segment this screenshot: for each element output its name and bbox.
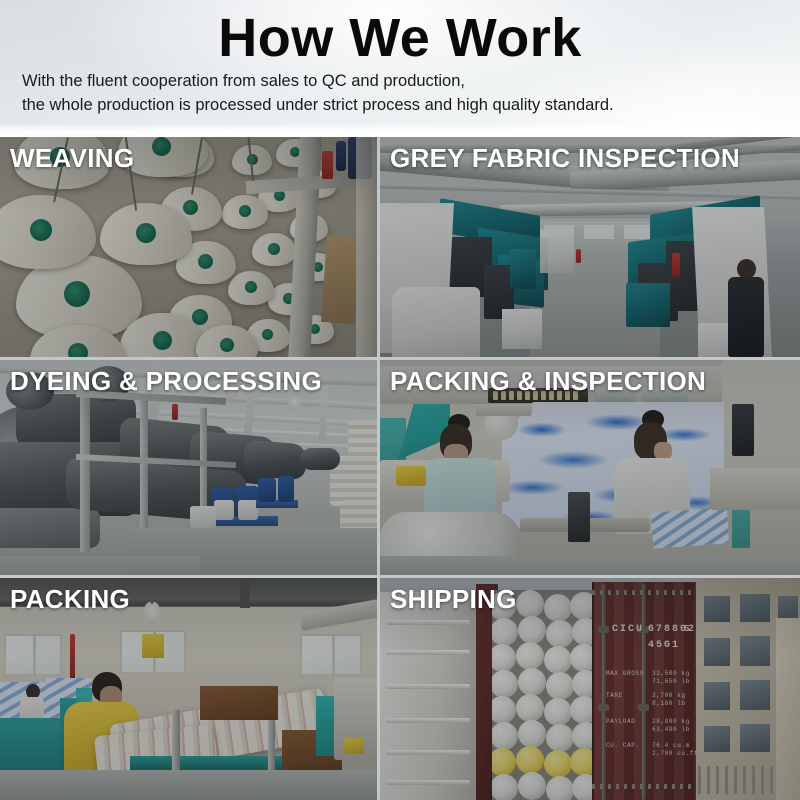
subtitle-line-2: the whole production is processed under … xyxy=(22,94,782,118)
plate-value-payload-lb: 63,490 lb xyxy=(652,726,690,733)
how-we-work-page: How We Work With the fluent cooperation … xyxy=(0,0,800,800)
worker-figure xyxy=(726,259,766,357)
grid-cell-dyeing-processing[interactable]: DYEING & PROCESSING xyxy=(0,360,380,578)
subtitle-line-1: With the fluent cooperation from sales t… xyxy=(22,70,782,94)
plate-value-tare-kg: 3,700 kg xyxy=(652,692,686,699)
grid-cell-packing[interactable]: PACKING xyxy=(0,578,380,800)
process-grid: WEAVING xyxy=(0,137,800,800)
page-header: How We Work With the fluent cooperation … xyxy=(0,0,800,137)
caption-packing: PACKING xyxy=(10,584,130,615)
plate-label-cu-cap: CU. CAP. xyxy=(606,742,640,749)
plate-value-payload-kg: 28,800 kg xyxy=(652,718,690,725)
plate-value-max-gross-lb: 71,650 lb xyxy=(652,678,690,685)
caption-packing-inspection: PACKING & INSPECTION xyxy=(390,366,706,397)
grid-cell-shipping[interactable]: CICU 678802 5 45G1 MAX GROSS 32,500 kg 7… xyxy=(380,578,800,800)
plate-label-payload: PAYLOAD xyxy=(606,718,635,725)
cargo-rolls xyxy=(492,590,594,800)
plate-value-tare-lb: 8,160 lb xyxy=(652,700,686,707)
container-type-code: 45G1 xyxy=(648,640,680,651)
plate-value-cu-cap-ft3: 2,700 cu.ft xyxy=(652,750,698,757)
caption-weaving: WEAVING xyxy=(10,143,134,174)
grid-cell-weaving[interactable]: WEAVING xyxy=(0,137,380,360)
page-title: How We Work xyxy=(0,11,800,65)
container-check-digit: 5 xyxy=(684,624,691,634)
caption-dyeing-processing: DYEING & PROCESSING xyxy=(10,366,322,397)
plate-value-cu-cap-m3: 76.4 cu.m xyxy=(652,742,690,749)
page-subtitle: With the fluent cooperation from sales t… xyxy=(22,70,782,118)
caption-shipping: SHIPPING xyxy=(390,584,517,615)
grid-cell-grey-fabric-inspection[interactable]: GREY FABRIC INSPECTION xyxy=(380,137,800,360)
plate-label-max-gross: MAX GROSS xyxy=(606,670,644,677)
plate-label-tare: TARE xyxy=(606,692,623,699)
plate-value-max-gross-kg: 32,500 kg xyxy=(652,670,690,677)
grid-cell-packing-inspection[interactable]: PACKING & INSPECTION xyxy=(380,360,800,578)
caption-grey-fabric-inspection: GREY FABRIC INSPECTION xyxy=(390,143,740,174)
container-owner-code: CICU xyxy=(612,624,644,635)
